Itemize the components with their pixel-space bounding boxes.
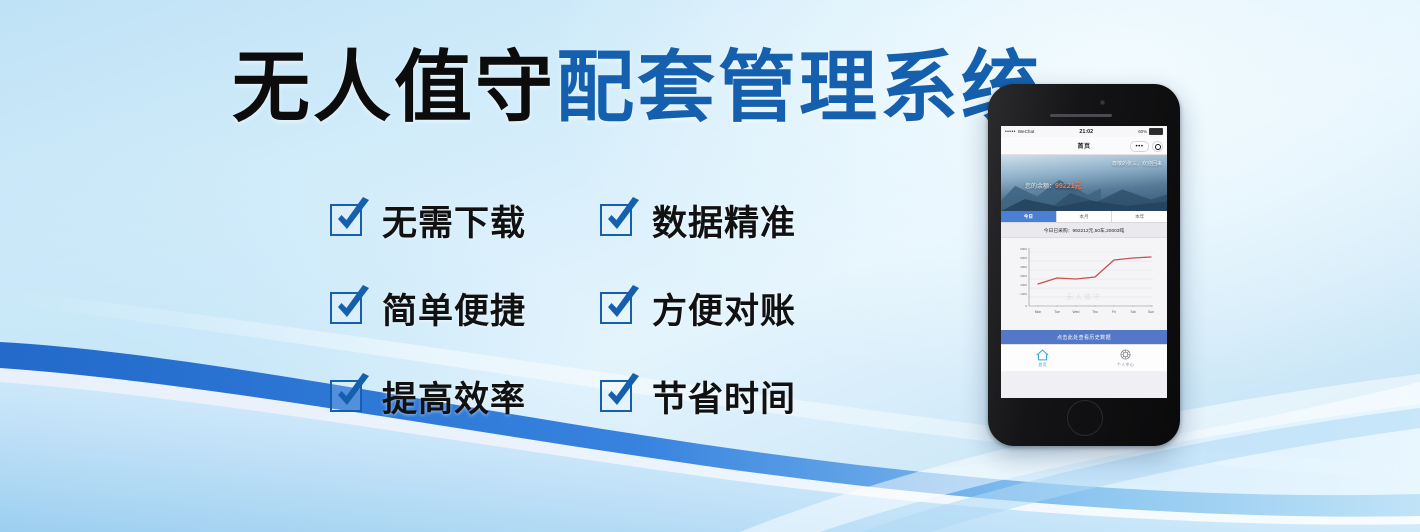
title-dark-part: 无人值守: [232, 43, 556, 131]
tabbar-label: 个人中心: [1117, 362, 1134, 368]
feature-label: 数据精准: [652, 195, 796, 246]
feature-label: 简单便捷: [382, 283, 526, 334]
svg-text:1000: 1000: [1020, 292, 1027, 296]
page-title: 无人值守配套管理系统: [232, 48, 1042, 126]
battery-percent-label: 60%: [1138, 129, 1147, 134]
feature-item: 节省时间: [600, 371, 870, 422]
feature-item: 提高效率: [330, 371, 600, 422]
checkbox-checked-icon: [600, 202, 636, 238]
svg-text:0: 0: [1025, 304, 1027, 308]
feature-item: 无需下载: [330, 195, 600, 246]
svg-text:Sun: Sun: [1148, 310, 1154, 314]
status-bar: ••••• WeChat 21:02 60%: [1001, 126, 1167, 137]
clock-label: 21:02: [1036, 129, 1136, 135]
tabbar-item-home[interactable]: 首页: [1001, 345, 1084, 371]
hero-banner: 尊敬的张三，欢迎回来 您的余额：99221元: [1001, 155, 1167, 211]
svg-text:Wed: Wed: [1073, 310, 1080, 314]
home-icon: [1036, 349, 1049, 361]
nav-title: 首页: [1077, 141, 1090, 150]
target-icon[interactable]: [1152, 141, 1163, 152]
balance-value: 99221元: [1055, 183, 1081, 190]
tabbar-item-profile[interactable]: 个人中心: [1084, 345, 1167, 371]
speaker-grille: [1050, 114, 1112, 117]
nav-bar: 首页 •••: [1001, 137, 1167, 155]
svg-text:Fri: Fri: [1112, 310, 1116, 314]
watermark: 无人值守: [1066, 292, 1102, 302]
checkbox-checked-icon: [330, 290, 366, 326]
feature-item: 简单便捷: [330, 283, 600, 334]
svg-text:5000: 5000: [1020, 256, 1027, 260]
feature-item: 方便对账: [600, 283, 870, 334]
checkbox-checked-icon: [600, 378, 636, 414]
camera-icon: [1100, 100, 1105, 105]
promo-banner: 无人值守配套管理系统 无需下载 数据精准 简单便捷: [0, 0, 1420, 532]
tabbar-label: 首页: [1038, 362, 1047, 368]
welcome-text: 尊敬的张三，欢迎回来: [1112, 160, 1162, 167]
feature-label: 方便对账: [652, 283, 796, 334]
carrier-label: WeChat: [1018, 129, 1035, 134]
checkbox-checked-icon: [330, 202, 366, 238]
svg-text:3000: 3000: [1020, 274, 1027, 278]
feature-label: 节省时间: [652, 371, 796, 422]
svg-text:Mon: Mon: [1035, 310, 1042, 314]
svg-text:2000: 2000: [1020, 283, 1027, 287]
history-cta-button[interactable]: 点击此处查看历史数据: [1001, 330, 1167, 344]
more-icon[interactable]: •••: [1130, 141, 1149, 152]
svg-text:6000: 6000: [1020, 247, 1027, 251]
checkbox-checked-icon: [600, 290, 636, 326]
wechat-capsule: •••: [1130, 141, 1163, 152]
gear-icon: [1119, 348, 1132, 361]
tab-today[interactable]: 今日: [1001, 211, 1057, 222]
summary-row: 今日已采购：992212元,50车,20003吨: [1001, 223, 1167, 238]
feature-label: 无需下载: [382, 195, 526, 246]
balance-row: 您的余额：99221元: [1025, 181, 1081, 191]
balance-label: 您的余额：: [1025, 184, 1055, 190]
phone-screen: ••••• WeChat 21:02 60% 首页 ••• 尊敬的张三，欢迎回来…: [1001, 126, 1167, 398]
period-tabs: 今日 本月 本年: [1001, 211, 1167, 223]
battery-icon: [1149, 128, 1163, 135]
line-chart: 6000 5000 4000 3000 2000 1000 0 Mon Tue …: [1001, 238, 1167, 330]
tab-month[interactable]: 本月: [1057, 211, 1113, 222]
feature-label: 提高效率: [382, 371, 526, 422]
svg-text:4000: 4000: [1020, 265, 1027, 269]
home-button[interactable]: [1067, 400, 1103, 436]
feature-list: 无需下载 数据精准 简单便捷 方便对账: [330, 176, 870, 440]
bottom-tab-bar: 首页 个人中心: [1001, 344, 1167, 371]
svg-text:Sat: Sat: [1130, 310, 1135, 314]
svg-text:Tue: Tue: [1054, 310, 1060, 314]
phone-mockup: ••••• WeChat 21:02 60% 首页 ••• 尊敬的张三，欢迎回来…: [988, 84, 1180, 446]
tab-year[interactable]: 本年: [1112, 211, 1167, 222]
svg-text:Thu: Thu: [1092, 310, 1098, 314]
title-blue-part: 配套管理系统: [556, 43, 1042, 131]
signal-dots-icon: •••••: [1005, 129, 1016, 135]
checkbox-checked-icon: [330, 378, 366, 414]
feature-item: 数据精准: [600, 195, 870, 246]
